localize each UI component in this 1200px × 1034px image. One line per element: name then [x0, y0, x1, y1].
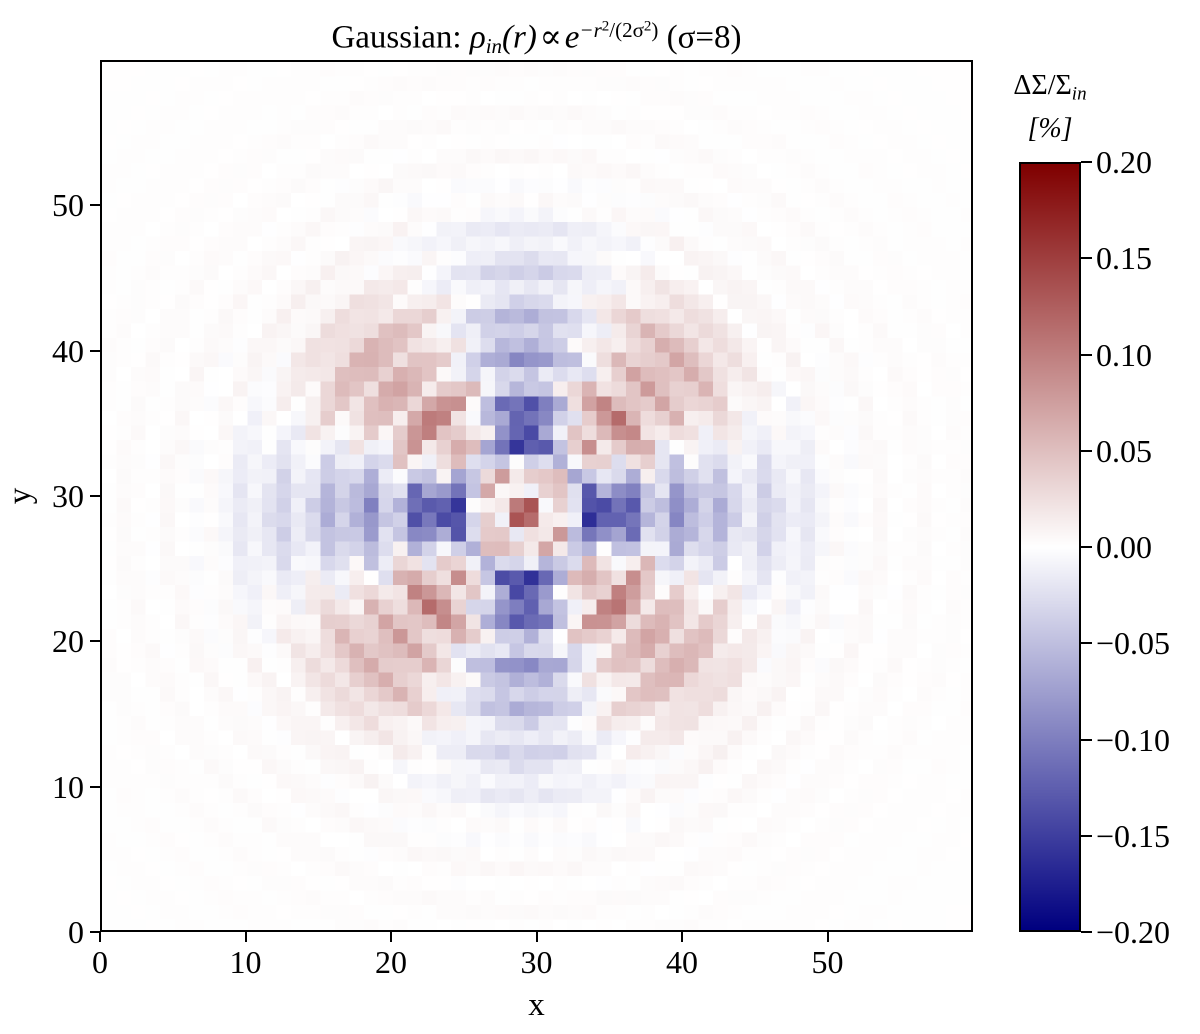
- exponent-numerator: −r: [579, 18, 601, 42]
- y-tick-label: 40: [0, 332, 84, 370]
- colorbar-tick-label: −0.15: [1096, 817, 1170, 855]
- x-tick-mark: [245, 932, 247, 942]
- title-exponent: −r2/(2σ2): [579, 18, 658, 42]
- colorbar-tick-mark: [1081, 354, 1092, 356]
- x-tick-label: 40: [637, 943, 727, 981]
- x-tick-label: 10: [201, 943, 291, 981]
- x-axis-label: x: [100, 985, 973, 1025]
- colorbar-tick-mark: [1081, 257, 1092, 259]
- colorbar-tick-label: 0.20: [1096, 143, 1152, 181]
- heatmap-image: [102, 62, 973, 932]
- colorbar-label-subscript: in: [1072, 83, 1087, 104]
- colorbar-tick-mark: [1081, 739, 1092, 741]
- y-tick-label: 10: [0, 768, 84, 806]
- x-tick-mark: [99, 932, 101, 942]
- y-tick-label: 0: [0, 913, 84, 951]
- y-tick-mark: [90, 204, 100, 206]
- x-tick-mark: [390, 932, 392, 942]
- colorbar-tick-mark: [1081, 931, 1092, 933]
- y-tick-mark: [90, 786, 100, 788]
- colorbar-tick-label: −0.10: [1096, 721, 1170, 759]
- y-tick-mark: [90, 931, 100, 933]
- colorbar-axis-label: ΔΣ/Σin [%]: [985, 68, 1115, 146]
- y-tick-label: 20: [0, 622, 84, 660]
- colorbar-tick-mark: [1081, 450, 1092, 452]
- colorbar-tick-label: −0.20: [1096, 913, 1170, 951]
- colorbar-tick-mark: [1081, 161, 1092, 163]
- x-tick-mark: [681, 932, 683, 942]
- title-radius-arg: (r): [502, 19, 537, 55]
- x-tick-mark: [827, 932, 829, 942]
- y-tick-mark: [90, 640, 100, 642]
- title-exponential-base: e: [565, 19, 580, 55]
- proportional-to-symbol: ∝: [540, 19, 562, 55]
- colorbar-tick-label: 0.05: [1096, 432, 1152, 470]
- colorbar-label-line-1: ΔΣ/Σin: [985, 68, 1115, 111]
- colorbar-tick-mark: [1081, 546, 1092, 548]
- plot-axes-frame: [100, 60, 973, 932]
- colorbar-tick-label: 0.00: [1096, 528, 1152, 566]
- y-tick-label: 50: [0, 186, 84, 224]
- y-axis-label: y: [0, 456, 40, 536]
- colorbar-tick-label: 0.10: [1096, 336, 1152, 374]
- x-tick-label: 30: [492, 943, 582, 981]
- y-tick-mark: [90, 495, 100, 497]
- x-tick-label: 20: [346, 943, 436, 981]
- colorbar-gradient: [1021, 164, 1079, 930]
- plot-title: Gaussian: ρin(r) ∝ e−r2/(2σ2) (σ=8): [100, 4, 973, 68]
- x-tick-mark: [536, 932, 538, 942]
- exponent-denominator: /(2σ: [609, 18, 644, 42]
- colorbar: [1019, 162, 1081, 932]
- colorbar-tick-mark: [1081, 642, 1092, 644]
- colorbar-tick-mark: [1081, 835, 1092, 837]
- x-tick-label: 50: [783, 943, 873, 981]
- y-tick-mark: [90, 350, 100, 352]
- colorbar-tick-label: 0.15: [1096, 239, 1152, 277]
- colorbar-label-line-2: [%]: [985, 111, 1115, 146]
- title-rho: ρ: [470, 19, 486, 55]
- title-rho-subscript: in: [486, 34, 502, 58]
- title-sigma-value: (σ=8): [658, 19, 741, 55]
- title-prefix: Gaussian:: [331, 19, 469, 55]
- colorbar-tick-label: −0.05: [1096, 624, 1170, 662]
- figure-canvas: Gaussian: ρin(r) ∝ e−r2/(2σ2) (σ=8) 0102…: [0, 0, 1200, 1034]
